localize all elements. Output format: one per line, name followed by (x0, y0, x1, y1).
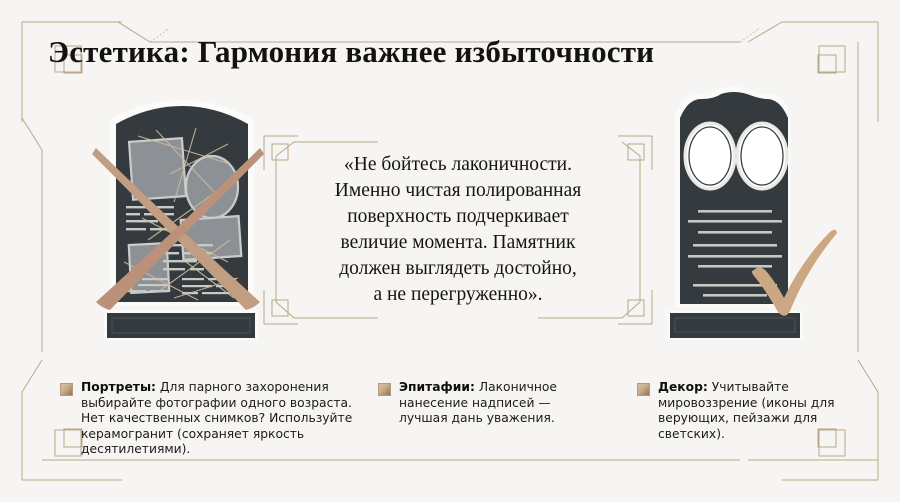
illustration-minimal-monument (645, 84, 845, 350)
quote-line-2: Именно чистая полированная (282, 178, 634, 204)
quote-line-6: а не перегруженно». (282, 282, 634, 308)
list-item-body: Портреты: Для парного захоронения выбира… (81, 380, 355, 458)
gold-square-bullet-icon (378, 383, 391, 396)
slide-root: Эстетика: Гармония важнее избыточности (0, 0, 900, 502)
quote-line-3: поверхность подчеркивает (282, 204, 634, 230)
cluttered-monument-svg (78, 92, 278, 350)
list-item-label: Декор: (658, 380, 708, 394)
bullet-list: Портреты: Для парного захоронения выбира… (0, 372, 900, 482)
quote-line-5: должен выглядеть достойно, (282, 256, 634, 282)
quote-block: «Не бойтесь лаконичности. Именно чистая … (258, 130, 658, 330)
quote-line-4: величие момента. Памятник (282, 230, 634, 256)
page-title: Эстетика: Гармония важнее избыточности (48, 34, 654, 70)
list-item-label: Портреты: (81, 380, 156, 394)
list-item-epitaphs: Эпитафии: Лаконичное нанесение надписей … (378, 380, 603, 427)
list-item-decor: Декор: Учитывайте мировоззрение (иконы д… (637, 380, 872, 442)
minimal-monument-svg (645, 84, 845, 350)
quote-line-1: «Не бойтесь лаконичности. (282, 152, 634, 178)
list-item-body: Эпитафии: Лаконичное нанесение надписей … (399, 380, 603, 427)
gold-square-bullet-icon (60, 383, 73, 396)
illustration-cluttered-monument (78, 92, 278, 350)
list-item-portraits: Портреты: Для парного захоронения выбира… (60, 380, 355, 458)
list-item-body: Декор: Учитывайте мировоззрение (иконы д… (658, 380, 872, 442)
quote-text: «Не бойтесь лаконичности. Именно чистая … (282, 152, 634, 308)
gold-square-bullet-icon (637, 383, 650, 396)
list-item-label: Эпитафии: (399, 380, 475, 394)
